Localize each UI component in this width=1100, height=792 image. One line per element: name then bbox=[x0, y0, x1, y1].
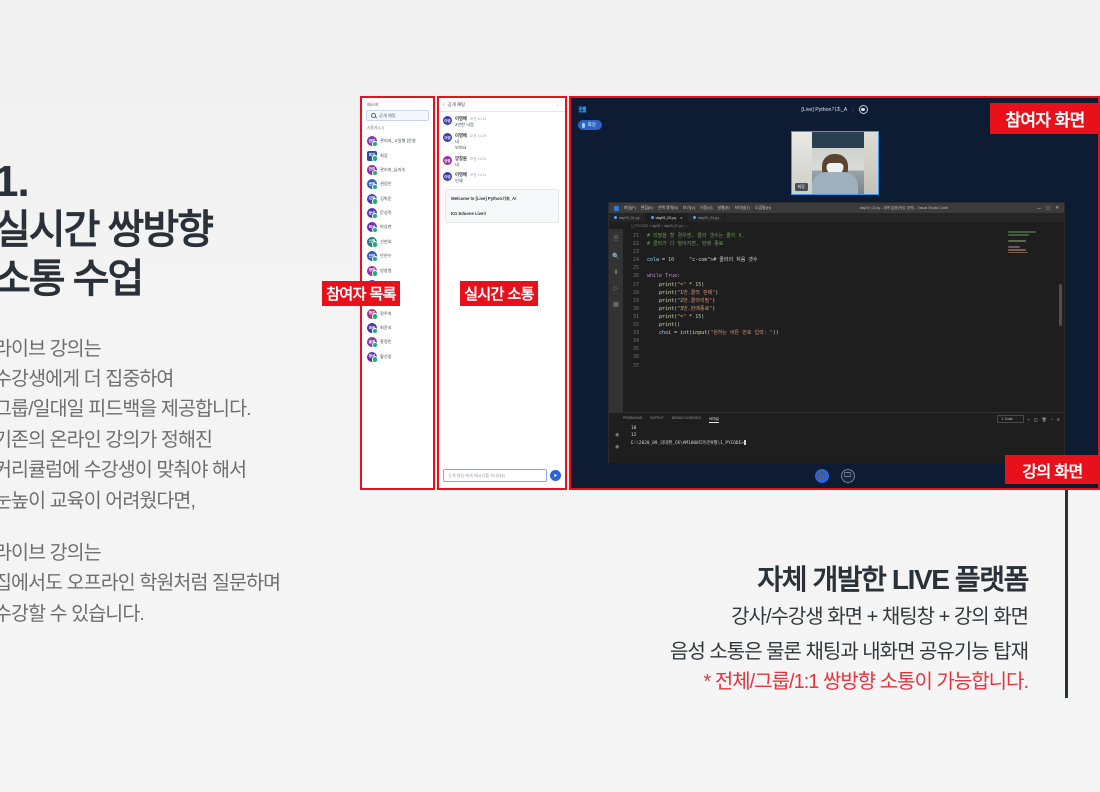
audio-button[interactable]: 🎧 bbox=[815, 469, 829, 483]
message-author: 이영배 bbox=[455, 133, 467, 139]
code-line: 33 choi = int(input("원하는 버튼 번호 입력: ")) bbox=[623, 329, 1064, 337]
file-icon bbox=[693, 216, 696, 219]
participant-name: 권정인 bbox=[380, 181, 392, 187]
participant-row[interactable]: 관리관리자_고일형 (운영 bbox=[365, 134, 430, 148]
vscode-window-title: day09_02.py - 제목 없음(작업 영역) - Visual Stud… bbox=[860, 206, 948, 211]
vscode-activity-bar: 🖹 🔍 ⬆ ▷ ▦ bbox=[609, 229, 623, 412]
maximize-panel-icon[interactable]: ^ bbox=[1051, 417, 1053, 422]
self-audio-badge[interactable]: 최강 bbox=[578, 120, 602, 130]
callout-participant-screen: 참여자 화면 bbox=[990, 103, 1100, 134]
maximize-button[interactable]: ▢ bbox=[1046, 205, 1050, 211]
back-icon[interactable]: ‹ bbox=[443, 103, 445, 108]
participants-count: 사용자(17) bbox=[362, 121, 433, 134]
chat-message: 이영이영배오전 10:112만한 낙음 bbox=[443, 116, 561, 129]
terminal-gutter-icons: ◉◉ bbox=[615, 429, 619, 453]
vscode-editor-tabs: day09_01.pyday09_02.py×day09_03.py bbox=[609, 213, 1064, 222]
line-number: 32 bbox=[623, 321, 647, 329]
para1-line-1: 라이브 강의는 bbox=[0, 334, 364, 364]
minimize-button[interactable]: — bbox=[1037, 206, 1041, 211]
menu-item[interactable]: 터미널(T) bbox=[735, 206, 750, 211]
callout-lecture-screen: 강의 화면 bbox=[1005, 455, 1100, 484]
participant-row[interactable]: 최강최강 bbox=[365, 148, 430, 162]
close-panel-icon[interactable]: ✕ bbox=[1057, 417, 1060, 422]
avatar: 홍정 bbox=[367, 337, 377, 347]
participant-row[interactable]: 문성문성욱 bbox=[365, 206, 430, 220]
file-icon bbox=[614, 216, 617, 219]
line-number: 21 bbox=[623, 232, 647, 240]
message-author: 양창원 bbox=[455, 156, 467, 162]
panel-tabs: PROBLEMSOUTPUTDEBUG CONSOLE터미널 bbox=[609, 413, 1064, 425]
chat-message: 양창양창원오전 11:29네 bbox=[443, 156, 561, 169]
participant-name: 양창원 bbox=[380, 268, 392, 274]
microphone-icon bbox=[582, 123, 585, 128]
panel-tab[interactable]: OUTPUT bbox=[650, 416, 664, 423]
message-text: 보여요 bbox=[455, 145, 561, 152]
para2-line-3: 수강할 수 있습니다. bbox=[0, 599, 364, 629]
participant-row[interactable]: 최윤최윤지 bbox=[365, 321, 430, 335]
avatar: 정주 bbox=[367, 309, 377, 319]
editor-tab-label: day09_03.py bbox=[698, 216, 719, 220]
search-icon[interactable]: 🔍 bbox=[612, 253, 619, 260]
participant-name: 박상현 bbox=[380, 224, 392, 230]
participant-row[interactable]: 홍정홍정민 bbox=[365, 335, 430, 349]
system-welcome-card: Welcome to [Live] Python기초_A!KG Eduone L… bbox=[445, 189, 559, 223]
participant-row[interactable]: 황선황선정 bbox=[365, 350, 430, 364]
source-control-icon[interactable]: ⬆ bbox=[613, 269, 618, 276]
code-line: 34 bbox=[623, 337, 1064, 345]
code-text: # 콜라가 다 떨어지면, 판매 종료 bbox=[647, 240, 723, 248]
line-number: 26 bbox=[623, 272, 647, 280]
headline-line-1: 실시간 쌍방향 bbox=[0, 206, 364, 255]
para1-line-2: 수강생에게 더 집중하여 bbox=[0, 364, 364, 394]
code-text: print() bbox=[647, 321, 680, 329]
code-text: choi = int(input("원하는 버튼 번호 입력: ")) bbox=[647, 329, 779, 337]
participant-row[interactable]: 관리관리자_남지숙 bbox=[365, 163, 430, 177]
code-line: 25 bbox=[623, 264, 1064, 272]
extensions-icon[interactable]: ▦ bbox=[613, 301, 619, 308]
terminal-output[interactable]: 1012E:\2020_09_의대편_CK\AM1000티이천9월\1_PYCO… bbox=[609, 425, 1064, 447]
shared-screen-vscode: 파일(F)편집(E)선택 영역(S)보기(V)이동(G)실행(R)터미널(T)도… bbox=[608, 202, 1065, 467]
terminal-select[interactable]: 1: Code bbox=[997, 415, 1023, 423]
participant-row[interactable]: 신현신현호 bbox=[365, 235, 430, 249]
chat-header: ‹ 공개 채팅 ⋮ bbox=[439, 98, 565, 112]
menu-item[interactable]: 도움말(H) bbox=[755, 206, 771, 211]
self-badge-label: 최강 bbox=[588, 122, 596, 128]
search-input[interactable]: 공개 채팅 bbox=[366, 110, 429, 121]
callout-live-chat: 실시간 소통 bbox=[460, 281, 538, 306]
explorer-icon[interactable]: 🖹 bbox=[614, 234, 619, 244]
avatar: 이영 bbox=[443, 172, 452, 181]
avatar: 신현 bbox=[367, 237, 377, 247]
code-line: 36 bbox=[623, 353, 1064, 361]
code-text: print("1번.콜라 판매") bbox=[647, 289, 718, 297]
line-number: 27 bbox=[623, 281, 647, 289]
editor-tab[interactable]: day09_03.py bbox=[688, 213, 725, 222]
code-text: print("3번.판매종료") bbox=[647, 305, 715, 313]
avatar: 권정 bbox=[367, 179, 377, 189]
code-text: print("=" * 15) bbox=[647, 281, 704, 289]
panel-actions: 1: Code + ◫ 🗑 ^ ✕ bbox=[997, 415, 1060, 423]
terminal-cursor bbox=[744, 440, 747, 445]
code-line: 30 print("3번.판매종료") bbox=[623, 305, 1064, 313]
line-number: 29 bbox=[623, 297, 647, 305]
message-text: 2만한 낙음 bbox=[455, 122, 561, 129]
avatar: 양창 bbox=[367, 266, 377, 276]
participant-name: 관리자_남지숙 bbox=[380, 167, 405, 173]
video-stage-panel: 👥 최강 [Live] Python기초_A | 최 bbox=[569, 96, 1100, 490]
line-number: 23 bbox=[623, 248, 647, 256]
code-text: print("=" * 15) bbox=[647, 313, 704, 321]
search-icon bbox=[371, 113, 376, 118]
participant-row[interactable]: 정주정주희 bbox=[365, 307, 430, 321]
code-line: 27 print("=" * 15) bbox=[623, 281, 1064, 289]
menu-item[interactable]: 보기(V) bbox=[683, 206, 695, 211]
code-line: 22# 콜라가 다 떨어지면, 판매 종료 bbox=[623, 240, 1064, 248]
para2-line-1: 라이브 강의는 bbox=[0, 538, 364, 568]
code-line: 29 print("2번.콜라리필") bbox=[623, 297, 1064, 305]
welcome-line-2: KG Eduone Live!! bbox=[451, 211, 553, 216]
platform-title: 자체 개발한 LIVE 플랫폼 bbox=[408, 562, 1028, 598]
participants-list: 관리관리자_고일형 (운영최강최강관리관리자_남지숙권정권정인김박김박준문성문성… bbox=[362, 134, 433, 364]
title-separator: | bbox=[852, 107, 853, 113]
video-tile-name: 최강 bbox=[795, 183, 808, 191]
editor-tab[interactable]: day09_02.py× bbox=[646, 213, 689, 222]
page-title: 실시간 쌍방향 소통 수업 bbox=[0, 206, 364, 304]
vertical-divider bbox=[1065, 490, 1068, 698]
code-line: 32 print() bbox=[623, 321, 1064, 329]
code-text: print("2번.콜라리필") bbox=[647, 297, 715, 305]
chat-composer: 공개 채팅 에게 메시지를 보내세요 ➤ bbox=[439, 464, 565, 488]
avatar: 관리 bbox=[367, 165, 377, 175]
participant-name: 황선정 bbox=[380, 354, 392, 360]
avatar: 양창 bbox=[443, 156, 452, 165]
avatar: 이영 bbox=[443, 116, 452, 125]
participant-row[interactable]: 권정권정인 bbox=[365, 177, 430, 191]
video-tile[interactable]: 최강 bbox=[791, 131, 879, 195]
para1-line-6: 눈높이 교육이 어려웠다면, bbox=[0, 486, 364, 516]
participant-row[interactable]: 양창양창원 bbox=[365, 263, 430, 277]
headline-line-2: 소통 수업 bbox=[0, 255, 364, 304]
close-button[interactable]: ✕ bbox=[1055, 205, 1059, 211]
vscode-bottom-panel: PROBLEMSOUTPUTDEBUG CONSOLE터미널 1: Code +… bbox=[609, 412, 1064, 467]
avatar: 김박 bbox=[367, 194, 377, 204]
para1-line-5: 커리큘럼에 수강생이 맞춰야 해서 bbox=[0, 455, 364, 485]
new-terminal-icon[interactable]: + bbox=[1028, 417, 1030, 422]
code-line: 21# 리필을 할 경우엔, 콜라 갯수는 줄지 X, bbox=[623, 232, 1064, 240]
participant-name: 최강 bbox=[380, 153, 388, 159]
chat-message: 이영이영배오전 11:31인쇄 bbox=[443, 172, 561, 185]
panel-tab[interactable]: PROBLEMS bbox=[623, 416, 642, 423]
minimap[interactable] bbox=[1008, 231, 1048, 257]
line-number: 25 bbox=[623, 264, 647, 272]
participant-name: 관리자_고일형 (운영 bbox=[380, 138, 416, 144]
line-number: 24 bbox=[623, 256, 647, 264]
section-number: 1. bbox=[0, 160, 364, 204]
participant-row[interactable]: 김박김박준 bbox=[365, 192, 430, 206]
code-text: # 리필을 할 경우엔, 콜라 갯수는 줄지 X, bbox=[647, 232, 745, 240]
avatar: 박상 bbox=[367, 222, 377, 232]
participant-name: 안연수 bbox=[380, 253, 392, 259]
message-text: 네 bbox=[455, 162, 561, 169]
code-line: 23 bbox=[623, 248, 1064, 256]
avatar: 최윤 bbox=[367, 323, 377, 333]
line-number: 31 bbox=[623, 313, 647, 321]
participant-name: 김박준 bbox=[380, 196, 392, 202]
menu-item[interactable]: 파일(F) bbox=[624, 206, 636, 211]
menu-item[interactable]: 편집(E) bbox=[641, 206, 653, 211]
left-body-copy: 라이브 강의는 수강생에게 더 집중하여 그룹/일대일 피드백을 제공합니다. … bbox=[0, 334, 364, 630]
code-line: 24cola = 10 "c-com"># 콜라의 처음 갯수 bbox=[623, 256, 1064, 264]
chat-title: 공개 채팅 bbox=[448, 102, 465, 108]
vscode-editor-area: 🖹 🔍 ⬆ ▷ ▦ 21# 리필을 할 경우엔, 콜라 갯수는 줄지 X,22#… bbox=[609, 229, 1064, 412]
code-line: 26while True: bbox=[623, 272, 1064, 280]
menu-item[interactable]: 이동(G) bbox=[700, 206, 712, 211]
split-terminal-icon[interactable]: ◫ bbox=[1034, 417, 1038, 422]
code-line: 31 print("=" * 15) bbox=[623, 313, 1064, 321]
participants-panel-title: 메시지 bbox=[362, 98, 433, 110]
para2-line-2: 집에서도 오프라인 학원처럼 질문하며 bbox=[0, 568, 364, 598]
run-debug-icon[interactable]: ▷ bbox=[614, 285, 619, 292]
participant-name: 신현호 bbox=[380, 239, 392, 245]
line-number: 34 bbox=[623, 337, 647, 345]
avatar: 관리 bbox=[367, 136, 377, 146]
editor-tab[interactable]: day09_01.py bbox=[609, 213, 646, 222]
record-icon[interactable] bbox=[859, 105, 868, 114]
code-text: while True: bbox=[647, 272, 680, 280]
code-line: 28 print("1번.콜라 판매") bbox=[623, 289, 1064, 297]
editor-tab-label: day09_02.py bbox=[656, 216, 677, 220]
welcome-line-1: Welcome to [Live] Python기초_A! bbox=[451, 196, 553, 202]
send-icon[interactable]: ➤ bbox=[550, 470, 561, 481]
line-number: 28 bbox=[623, 289, 647, 297]
vscode-menubar: 파일(F)편집(E)선택 영역(S)보기(V)이동(G)실행(R)터미널(T)도… bbox=[609, 203, 1064, 213]
file-icon bbox=[651, 216, 654, 219]
platform-line-2: 음성 소통은 물론 채팅과 내화면 공유기능 탑재 bbox=[408, 637, 1028, 667]
participant-row[interactable]: 안연안연수 bbox=[365, 249, 430, 263]
participant-name: 문성욱 bbox=[380, 210, 392, 216]
search-placeholder: 공개 채팅 bbox=[379, 113, 396, 119]
avatar: 문성 bbox=[367, 208, 377, 218]
line-number: 30 bbox=[623, 305, 647, 313]
session-title: [Live] Python기초_A bbox=[801, 106, 847, 113]
code-text: cola = 10 "c-com"># 콜라의 처음 갯수 bbox=[647, 256, 758, 264]
message-time: 오전 11:29 bbox=[470, 157, 486, 162]
menu-item[interactable]: 선택 영역(S) bbox=[658, 206, 678, 211]
line-number: 37 bbox=[623, 362, 647, 370]
editor-scrollbar[interactable] bbox=[1059, 284, 1062, 326]
terminal-line: 10 bbox=[631, 425, 1064, 432]
kill-terminal-icon[interactable]: 🗑 bbox=[1042, 417, 1047, 422]
slide-root: 1. 실시간 쌍방향 소통 수업 라이브 강의는 수강생에게 더 집중하여 그룹… bbox=[0, 0, 1100, 792]
participant-name: 정주희 bbox=[380, 311, 392, 317]
chat-message: 이영이영배오전 11:29네보여요 bbox=[443, 133, 561, 152]
line-number: 33 bbox=[623, 329, 647, 337]
kebab-menu-icon[interactable]: ⋮ bbox=[555, 103, 560, 108]
participant-name: 최윤지 bbox=[380, 325, 392, 331]
chat-input[interactable]: 공개 채팅 에게 메시지를 보내세요 bbox=[443, 469, 547, 482]
message-text: 인쇄 bbox=[455, 178, 561, 185]
breadcrumb: 1_PYCODE > day09 > day09_02.py > ... bbox=[609, 222, 1064, 229]
terminal-line: 12 bbox=[631, 432, 1064, 439]
right-copy-block: 자체 개발한 LIVE 플랫폼 강사/수강생 화면 + 채팅창 + 강의 화면 … bbox=[408, 562, 1028, 698]
screen-share-button[interactable]: 🖵 bbox=[841, 469, 855, 483]
avatar: 안연 bbox=[367, 251, 377, 261]
avatar: 이영 bbox=[443, 133, 452, 142]
message-time: 오전 11:31 bbox=[470, 173, 486, 178]
participant-name: 홍정민 bbox=[380, 339, 392, 345]
para1-line-3: 그룹/일대일 피드백을 제공합니다. bbox=[0, 394, 364, 424]
avatar: 황선 bbox=[367, 352, 377, 362]
para1-line-4: 기존의 온라인 강의가 정해진 bbox=[0, 425, 364, 455]
line-number: 22 bbox=[623, 240, 647, 248]
code-line: 35 bbox=[623, 345, 1064, 353]
message-time: 오전 11:29 bbox=[470, 134, 486, 139]
left-copy-block: 1. 실시간 쌍방향 소통 수업 라이브 강의는 수강생에게 더 집중하여 그룹… bbox=[0, 160, 364, 629]
menu-item[interactable]: 실행(R) bbox=[718, 206, 730, 211]
participant-row[interactable]: 박상박상현 bbox=[365, 220, 430, 234]
line-number: 36 bbox=[623, 353, 647, 361]
panel-tab[interactable]: 터미널 bbox=[709, 416, 718, 423]
avatar: 최강 bbox=[367, 151, 377, 161]
platform-note: * 전체/그룹/1:1 쌍방향 소통이 가능합니다. bbox=[408, 667, 1028, 697]
line-number: 35 bbox=[623, 345, 647, 353]
callout-participants-list: 참여자 목록 bbox=[322, 281, 400, 306]
platform-line-1: 강사/수강생 화면 + 채팅창 + 강의 화면 bbox=[408, 602, 1028, 632]
close-tab-icon[interactable]: × bbox=[680, 216, 682, 220]
terminal-line: E:\2020_09_의대편_CK\AM1000티이천9월\1_PYCODE> bbox=[631, 440, 1064, 447]
code-line: 37 bbox=[623, 362, 1064, 370]
chat-input-placeholder: 공개 채팅 에게 메시지를 보내세요 bbox=[448, 473, 505, 479]
editor-tab-label: day09_01.py bbox=[619, 216, 640, 220]
panel-tab[interactable]: DEBUG CONSOLE bbox=[672, 416, 702, 423]
vscode-logo-icon bbox=[614, 206, 619, 211]
code-editor[interactable]: 21# 리필을 할 경우엔, 콜라 갯수는 줄지 X,22# 콜라가 다 떨어지… bbox=[623, 229, 1064, 412]
